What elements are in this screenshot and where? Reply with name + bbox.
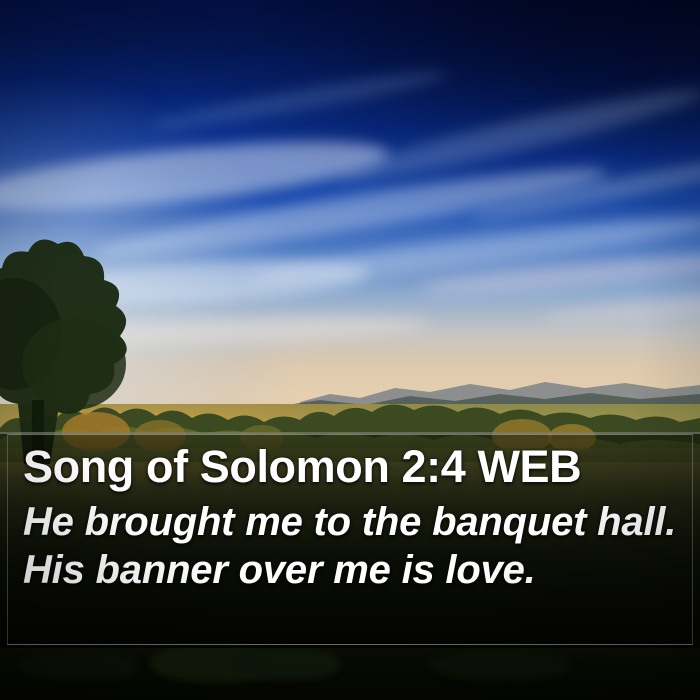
verse-image-card: Song of Solomon 2:4 WEB He brought me to…: [0, 0, 700, 700]
foreground-tree-silhouette: [0, 214, 184, 464]
dark-foreground-foliage: [0, 640, 700, 700]
foreground-bush: [430, 648, 570, 680]
verse-reference: Song of Solomon 2:4 WEB: [23, 442, 683, 492]
overlay-top-rule: [0, 432, 700, 434]
foreground-bush: [20, 650, 140, 680]
verse-text: He brought me to the banquet hall. His b…: [23, 498, 685, 594]
foreground-bush: [230, 646, 340, 680]
